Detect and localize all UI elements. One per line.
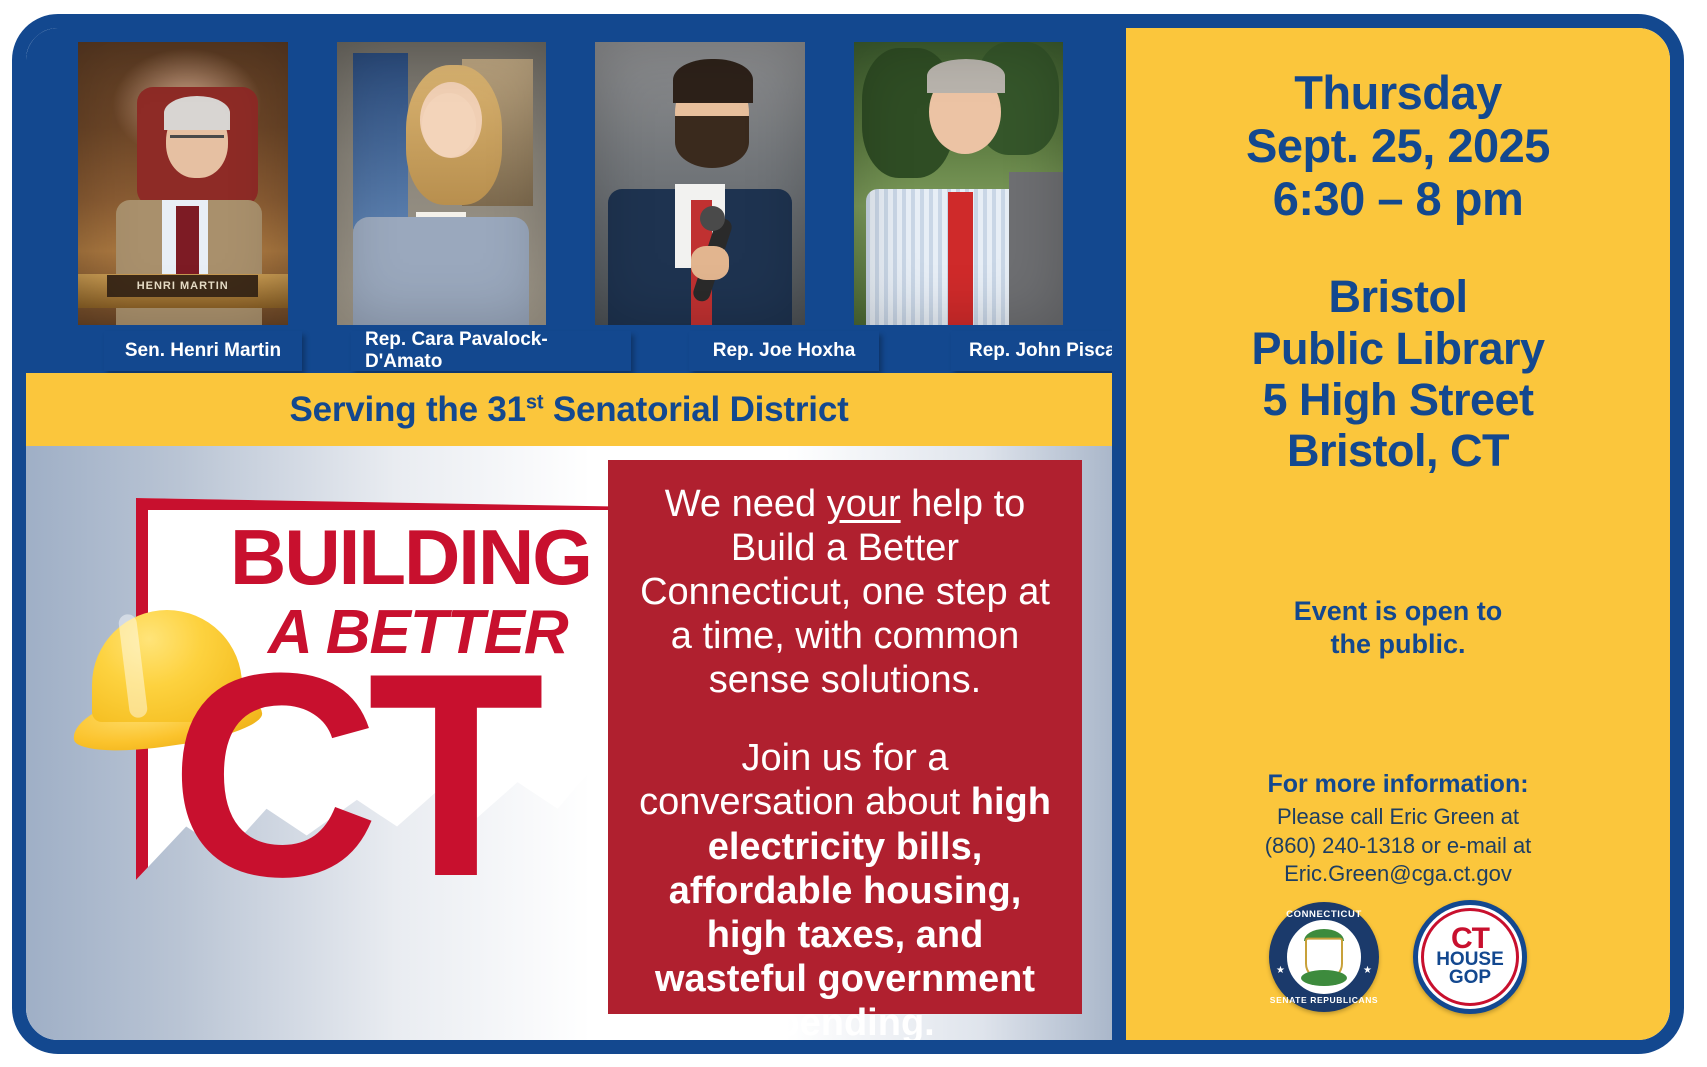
venue-city-state: Bristol, CT [1251,425,1544,476]
more-information-body: Please call Eric Green at (860) 240-1318… [1265,803,1532,889]
building-a-better-ct-logo: BUILDING A BETTER CT [60,480,660,980]
photo-vignette [337,42,547,325]
event-time: 6:30 – 8 pm [1246,172,1550,225]
district-ordinal: st [526,391,543,413]
more-information-heading: For more information: [1267,770,1528,799]
event-details-column: Thursday Sept. 25, 2025 6:30 – 8 pm Bris… [1112,28,1670,1040]
legislator-photo-henri-martin: HENRI MARTIN [78,42,288,325]
seal-star-right: ★ [1363,965,1372,976]
message-spacer [630,702,1060,736]
event-datetime-block: Thursday Sept. 25, 2025 6:30 – 8 pm [1246,66,1550,225]
event-open-notice: Event is open to the public. [1294,595,1503,663]
legislator-photo-joe-hoxha [595,42,805,325]
nameplate-cara-pavalock-damato: Rep. Cara Pavalock-D'Amato [351,331,631,371]
lower-content-area: BUILDING A BETTER CT We need your help t… [26,446,1112,1040]
photo-row: HENRI MARTIN [26,28,1112,373]
event-open-line2: the public. [1294,628,1503,662]
venue-name-line2: Public Library [1251,323,1544,374]
message-p1-part-a: We need [665,483,827,525]
message-box: We need your help to Build a Better Conn… [608,460,1082,1014]
photo-vignette [595,42,805,325]
message-p2-normal: Join us for a conversation about [639,737,971,823]
seal-bottom-text: SENATE REPUBLICANS [1269,995,1379,1005]
logo-text-building: BUILDING [230,522,591,594]
venue-street: 5 High Street [1251,374,1544,425]
seal-grapevine-bottom [1301,970,1347,986]
ct-house-gop-logo-icon: CT HOUSE GOP [1413,900,1527,1014]
legislator-photo-john-piscapo [854,42,1064,325]
district-banner: Serving the 31st Senatorial District [26,373,1112,446]
message-paragraph-1: We need your help to Build a Better Conn… [630,482,1060,702]
event-venue-block: Bristol Public Library 5 High Street Bri… [1251,271,1544,476]
legislator-photo-strip: HENRI MARTIN [26,28,1112,373]
district-text-before: Serving the 31 [289,390,525,429]
venue-name-line1: Bristol [1251,271,1544,322]
photo-vignette [78,42,288,325]
seal-star-left: ★ [1276,965,1285,976]
event-open-line1: Event is open to [1294,595,1503,629]
gop-logo-ring [1421,908,1519,1006]
legislator-photo-cara-pavalock-damato [337,42,547,325]
photo-vignette [854,42,1064,325]
logo-text-ct: CT [170,662,533,888]
flyer-frame: HENRI MARTIN [12,14,1684,1054]
event-day: Thursday [1246,66,1550,119]
organization-logos: CONNECTICUT ★ ★ SENATE REPUBLICANS CT HO… [1126,900,1670,1014]
nameplate-henri-martin: Sen. Henri Martin [104,331,302,371]
seal-inner-disc [1285,918,1363,996]
contact-call-line: Please call Eric Green at [1265,803,1532,832]
connecticut-senate-republicans-seal-icon: CONNECTICUT ★ ★ SENATE REPUBLICANS [1269,902,1379,1012]
district-banner-text: Serving the 31st Senatorial District [289,390,848,430]
message-paragraph-2: Join us for a conversation about high el… [630,736,1060,1045]
event-date: Sept. 25, 2025 [1246,119,1550,172]
district-text-after: Senatorial District [543,390,848,429]
flyer-root: HENRI MARTIN [0,0,1707,1067]
contact-email-line[interactable]: Eric.Green@cga.ct.gov [1265,860,1532,889]
nameplate-joe-hoxha: Rep. Joe Hoxha [689,331,879,371]
legislator-nameplates: Sen. Henri Martin Rep. Cara Pavalock-D'A… [26,331,1112,373]
message-p1-underlined-your: your [827,483,901,525]
contact-phone-line: (860) 240-1318 or e-mail at [1265,832,1532,861]
